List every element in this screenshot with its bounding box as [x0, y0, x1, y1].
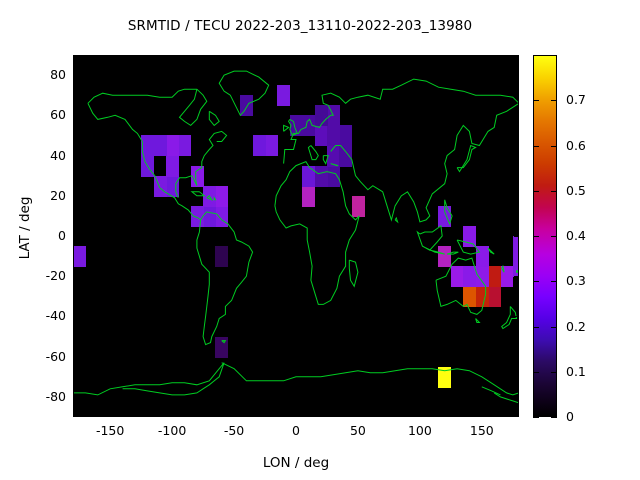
- colorbar-tick-mark: [551, 372, 557, 373]
- y-tick-mark: [73, 156, 78, 157]
- colorbar-tick-label: 0.1: [566, 364, 586, 379]
- coastline-path: [488, 248, 494, 254]
- page-title: SRMTID / TECU 2022-203_13110-2022-203_13…: [0, 18, 600, 34]
- coastline-path: [349, 260, 358, 286]
- colorbar-tick-mark: [551, 191, 557, 192]
- colorbar-tick-mark: [533, 191, 539, 192]
- coastline-path: [73, 363, 224, 395]
- x-tick-label: 50: [328, 423, 388, 438]
- colorbar-tick-mark: [533, 281, 539, 282]
- coastline-path: [482, 387, 501, 395]
- coastline-path: [209, 111, 219, 125]
- coastline-path: [331, 103, 519, 222]
- coastline-path: [457, 146, 476, 172]
- x-tick-mark: [110, 55, 111, 60]
- coastline-path: [308, 146, 318, 160]
- coastline-path: [214, 198, 215, 200]
- coastline-path: [502, 266, 504, 272]
- x-tick-mark: [110, 412, 111, 417]
- colorbar-tick-label: 0.4: [566, 228, 586, 243]
- y-tick-label: 80: [22, 67, 66, 82]
- y-tick-label: 0: [22, 228, 66, 243]
- coastline-path: [445, 200, 452, 224]
- y-tick-mark: [514, 276, 519, 277]
- y-tick-mark: [73, 397, 78, 398]
- coastline-path: [88, 89, 197, 103]
- colorbar-tick-mark: [533, 372, 539, 373]
- coastline-path: [219, 71, 269, 115]
- x-tick-label: 0: [266, 423, 326, 438]
- coastline-path: [275, 162, 359, 305]
- y-tick-mark: [73, 196, 78, 197]
- y-tick-mark: [514, 397, 519, 398]
- coastline-path: [426, 248, 445, 254]
- colorbar-tick-mark: [533, 236, 539, 237]
- x-tick-mark: [296, 55, 297, 60]
- coastline-path: [331, 164, 338, 166]
- y-tick-mark: [73, 115, 78, 116]
- colorbar-tick-label: 0.6: [566, 138, 586, 153]
- coastline-path: [502, 306, 517, 328]
- colorbar-tick-mark: [551, 327, 557, 328]
- colorbar-tick-mark: [551, 236, 557, 237]
- y-tick-mark: [514, 156, 519, 157]
- y-tick-mark: [514, 115, 519, 116]
- colorbar-tick-mark: [551, 281, 557, 282]
- x-tick-mark: [358, 412, 359, 417]
- y-tick-label: 20: [22, 188, 66, 203]
- colorbar-tick-mark: [533, 327, 539, 328]
- y-tick-mark: [73, 276, 78, 277]
- colorbar-tick-label: 0.3: [566, 273, 586, 288]
- coastline-path: [192, 192, 204, 196]
- x-tick-mark: [420, 412, 421, 417]
- coastline-path: [447, 252, 458, 254]
- coastline-path: [207, 196, 212, 200]
- x-tick-label: -150: [80, 423, 140, 438]
- y-tick-mark: [514, 316, 519, 317]
- colorbar-tick-label: 0: [566, 409, 574, 424]
- y-tick-mark: [73, 236, 78, 237]
- chart-root: SRMTID / TECU 2022-203_13110-2022-203_13…: [0, 0, 640, 480]
- y-tick-mark: [73, 357, 78, 358]
- coastline-path: [222, 341, 226, 343]
- x-tick-mark: [234, 55, 235, 60]
- y-tick-label: 40: [22, 148, 66, 163]
- x-tick-label: -50: [204, 423, 264, 438]
- y-tick-mark: [514, 236, 519, 237]
- x-tick-mark: [172, 55, 173, 60]
- y-tick-mark: [73, 316, 78, 317]
- colorbar-tick-mark: [533, 146, 539, 147]
- coastline-path: [476, 319, 480, 323]
- coastline-path: [284, 125, 289, 131]
- colorbar-tick-label: 0.7: [566, 92, 586, 107]
- coastline-path: [222, 363, 519, 395]
- colorbar-tick-mark: [551, 417, 557, 418]
- x-tick-label: 100: [390, 423, 450, 438]
- coastline-overlay: [73, 55, 519, 417]
- coastline-path: [395, 218, 398, 222]
- y-tick-mark: [514, 357, 519, 358]
- x-tick-label: 150: [452, 423, 512, 438]
- coastline-path: [284, 79, 519, 164]
- x-tick-mark: [234, 412, 235, 417]
- coastline-path: [176, 131, 227, 197]
- colorbar-tick-label: 0.5: [566, 183, 586, 198]
- x-tick-mark: [358, 55, 359, 60]
- colorbar-tick-mark: [551, 146, 557, 147]
- x-tick-label: -100: [142, 423, 202, 438]
- y-tick-label: 60: [22, 107, 66, 122]
- y-tick-mark: [514, 196, 519, 197]
- x-tick-mark: [420, 55, 421, 60]
- y-tick-label: -80: [22, 389, 66, 404]
- coastline-path: [197, 212, 253, 345]
- coastline-path: [180, 89, 207, 125]
- coastline-path: [457, 240, 479, 254]
- y-tick-label: -20: [22, 268, 66, 283]
- coastline-path: [436, 258, 486, 314]
- colorbar-tick-mark: [551, 100, 557, 101]
- x-tick-mark: [296, 412, 297, 417]
- colorbar-tick-mark: [533, 417, 539, 418]
- colorbar-tick-label: 0.2: [566, 319, 586, 334]
- y-tick-label: -40: [22, 308, 66, 323]
- x-axis-title: LON / deg: [73, 455, 519, 471]
- coastline-path: [417, 226, 442, 250]
- x-tick-mark: [172, 412, 173, 417]
- y-tick-mark: [73, 75, 78, 76]
- coastline-path: [517, 270, 520, 272]
- y-tick-mark: [514, 75, 519, 76]
- x-tick-mark: [482, 55, 483, 60]
- heatmap-plot-area: [73, 55, 519, 417]
- y-tick-label: -60: [22, 349, 66, 364]
- coastline-path: [323, 156, 328, 164]
- colorbar-tick-mark: [533, 100, 539, 101]
- x-tick-mark: [482, 412, 483, 417]
